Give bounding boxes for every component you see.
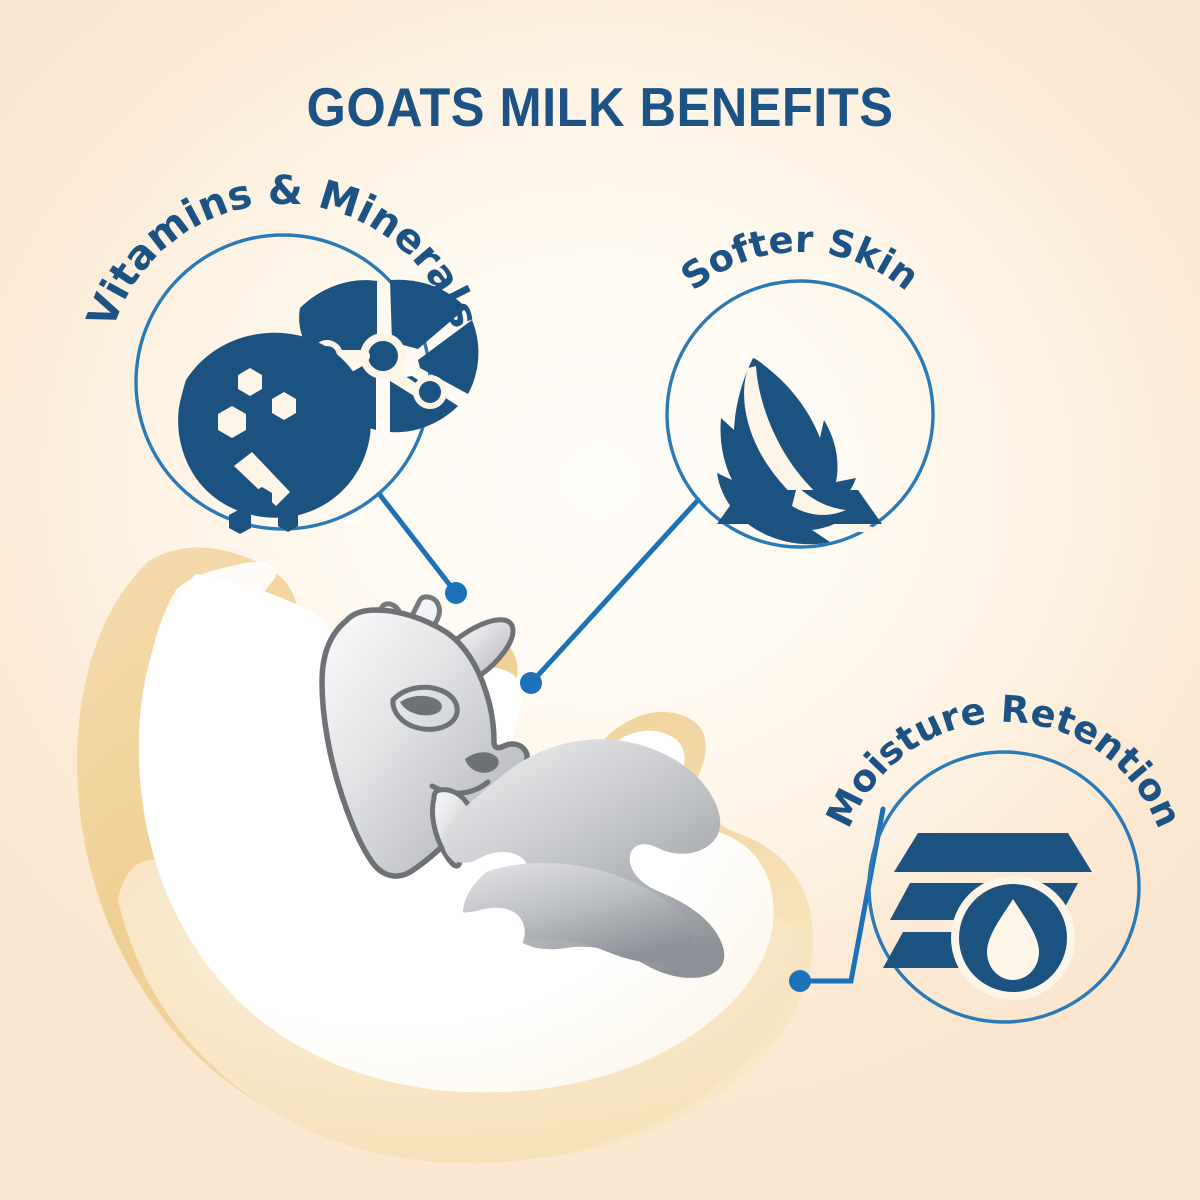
connector-dot-softer-skin [520,672,542,694]
badge-softer-skin[interactable]: Softer Skin [667,218,933,547]
badge-moisture-retention[interactable]: Moisture Retention [818,687,1191,1022]
feather-icon [717,358,884,544]
badge-label-moisture-retention: Moisture Retention [818,687,1191,833]
layers-droplet-icon [883,833,1092,1000]
infographic-canvas: GOATS MILK BENEFITS [0,0,1200,1200]
goat-in-milk-splash [77,548,813,1164]
molecule-leaf-icon [178,280,478,534]
connector-dot-moisture-retention [789,970,811,992]
badge-vitamins-minerals[interactable]: Vitamins & Minerals [79,168,488,534]
connector-softer-skin [531,500,698,683]
badge-label-softer-skin: Softer Skin [673,218,927,299]
connector-dot-vitamins-minerals [445,582,467,604]
connector-vitamins-minerals [380,495,456,593]
artboard: Vitamins & Minerals Softer Skin [0,0,1200,1200]
